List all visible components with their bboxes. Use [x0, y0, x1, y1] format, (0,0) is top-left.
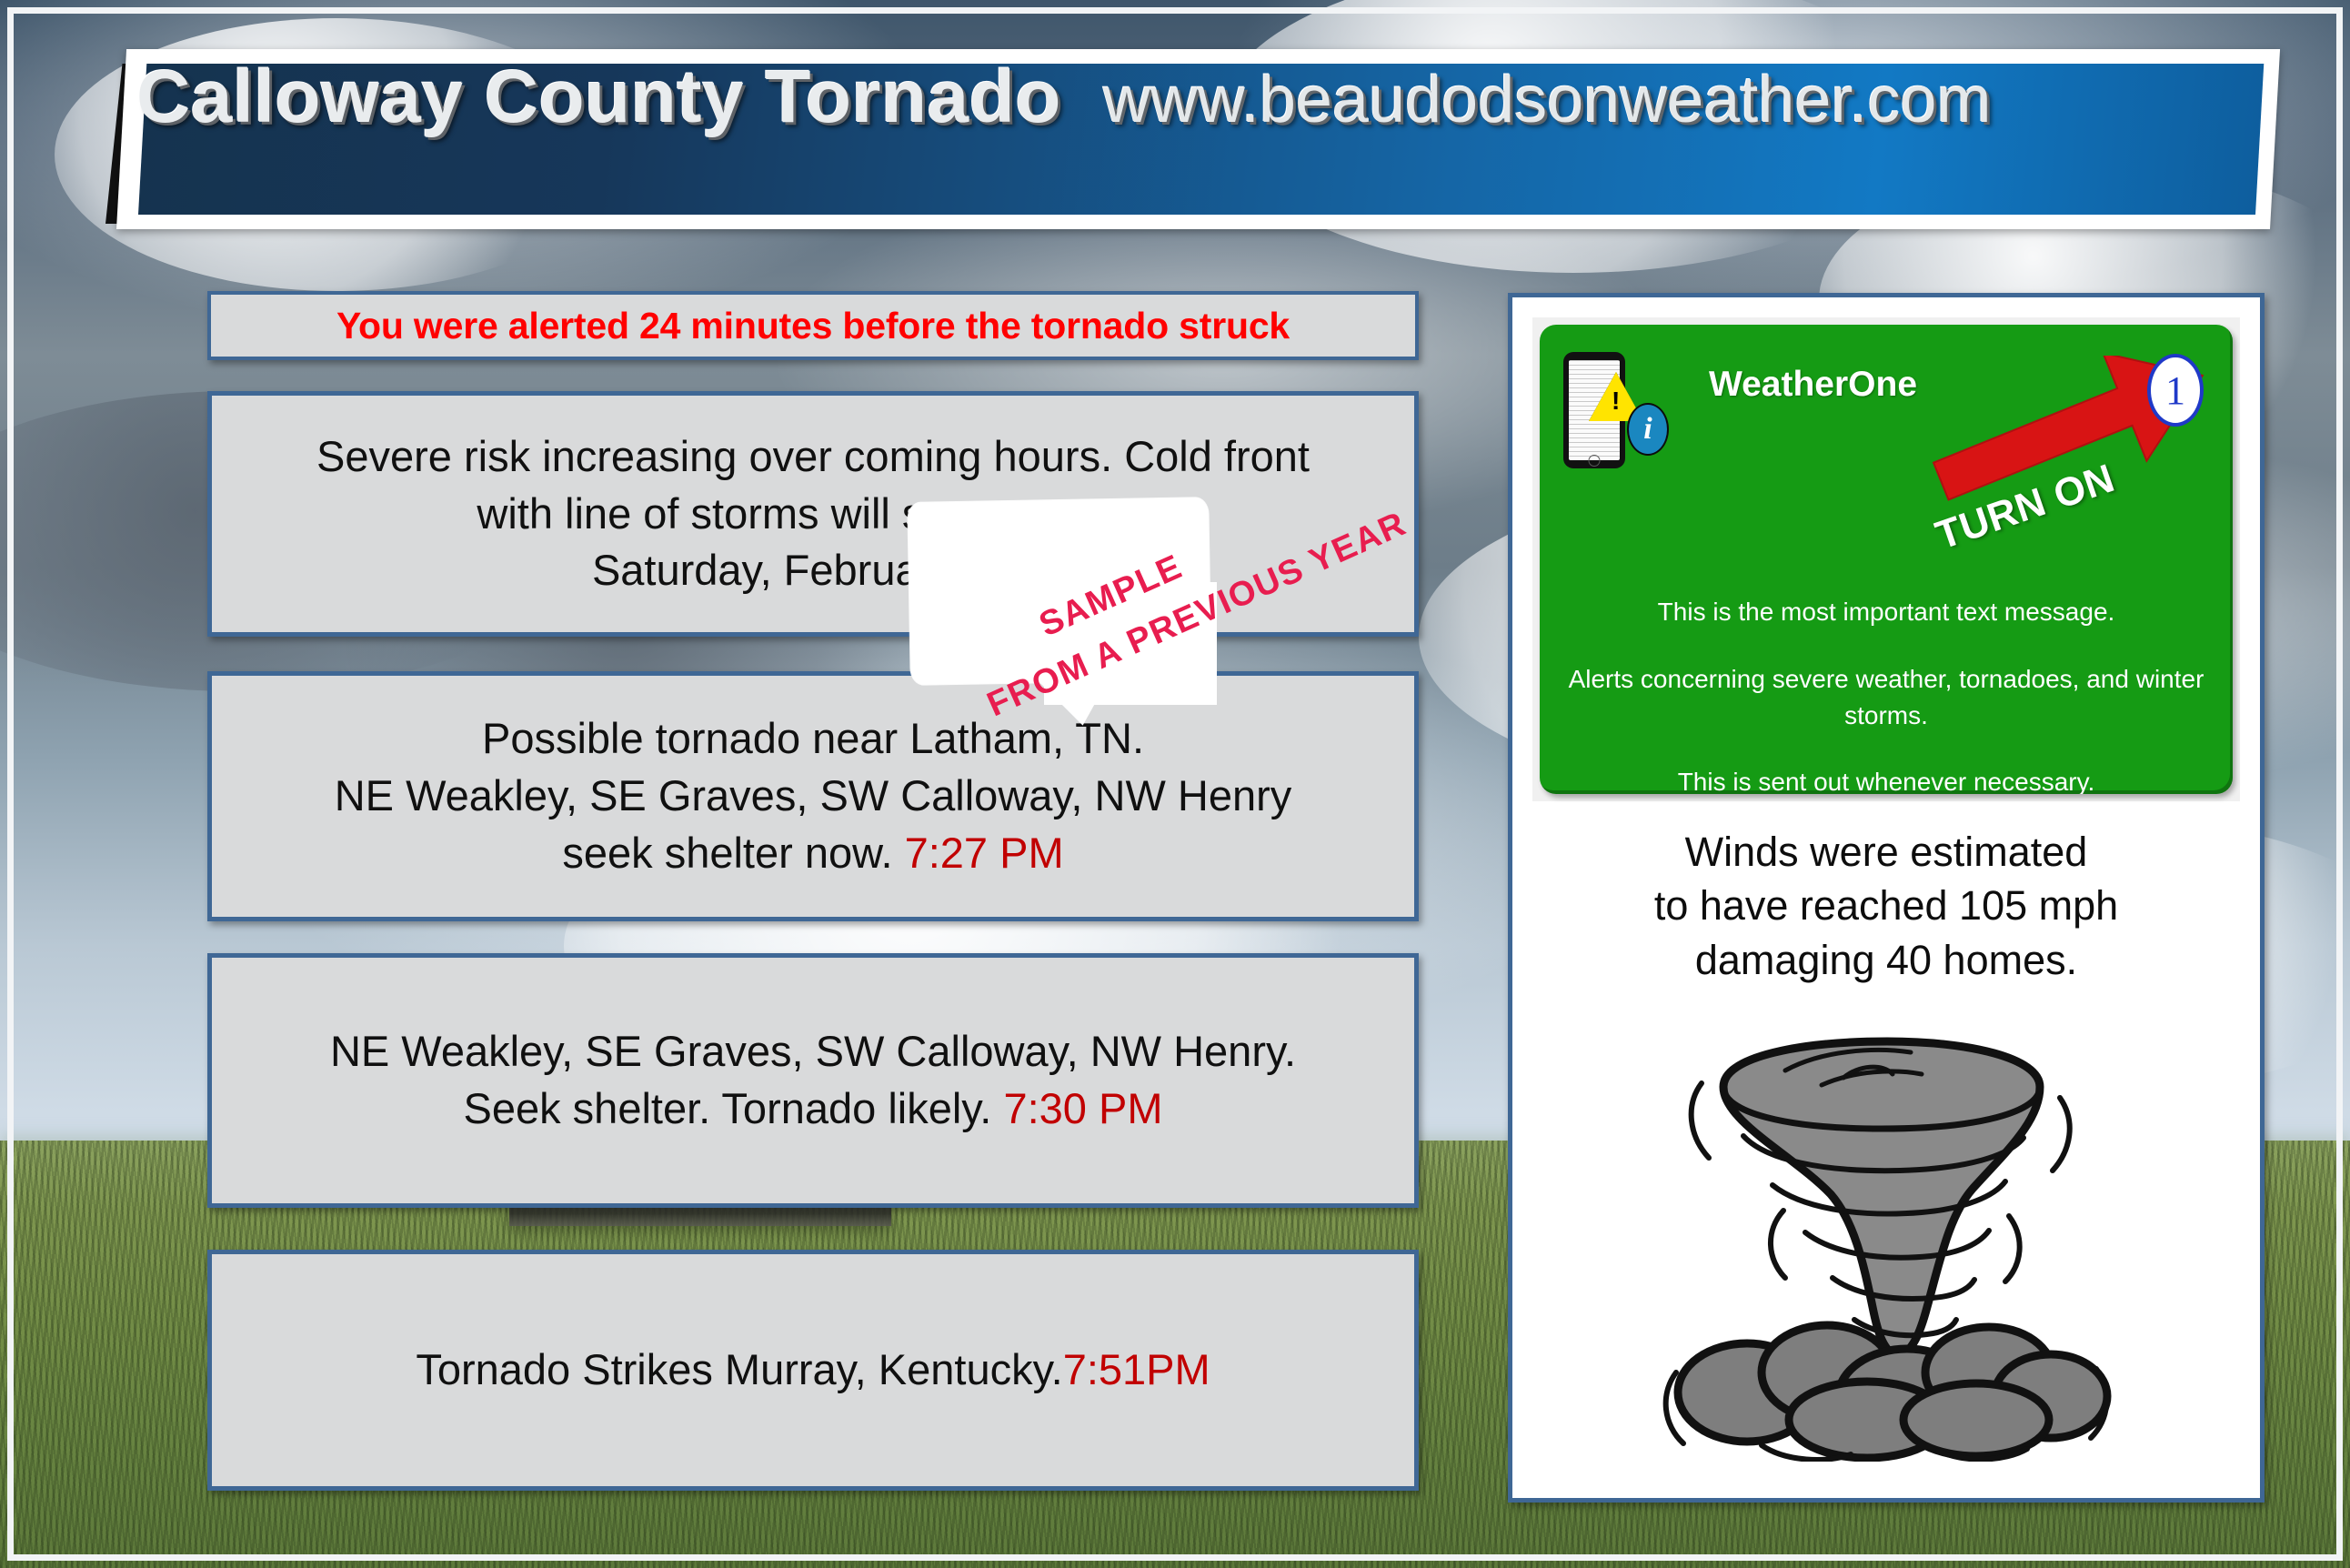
weatherone-body-text: This is the most important text message.… [1540, 594, 2233, 794]
alert-banner-text: You were alerted 24 minutes before the t… [336, 305, 1290, 347]
weatherone-body-line-1: This is the most important text message. [1567, 594, 2205, 630]
message-line-text: Tornado Strikes Murray, Kentucky. [416, 1345, 1062, 1393]
message-line: NE Weakley, SE Graves, SW Calloway, NW H… [330, 1023, 1296, 1081]
message-line: seek shelter now. 7:27 PM [562, 825, 1063, 882]
weatherone-brand-label: WeatherOne [1709, 365, 1917, 405]
message-line: Seek shelter. Tornado likely. 7:30 PM [464, 1081, 1163, 1138]
weatherone-panel: i WeatherOne 1 TURN ON This is the most … [1508, 293, 2265, 1503]
tornado-warning-message-box: Possible tornado near Latham, TN. NE Wea… [207, 671, 1419, 921]
message-timestamp: 7:51PM [1063, 1345, 1210, 1393]
message-line-text: seek shelter now. [562, 829, 892, 877]
tornado-strike-message-box: Tornado Strikes Murray, Kentucky.7:51PM [207, 1250, 1419, 1491]
info-icon: i [1627, 403, 1669, 456]
page-title: Calloway County Tornado [136, 55, 1061, 140]
step-number-badge: 1 [2147, 354, 2204, 427]
tornado-likely-message-box: NE Weakley, SE Graves, SW Calloway, NW H… [207, 953, 1419, 1208]
weatherone-body-line-2: Alerts concerning severe weather, tornad… [1567, 661, 2205, 734]
forecast-message-box: Severe risk increasing over coming hours… [207, 391, 1419, 637]
wind-summary-line-1: Winds were estimated [1512, 825, 2260, 879]
weatherone-card-frame: i WeatherOne 1 TURN ON This is the most … [1532, 317, 2240, 801]
weatherone-green-card: i WeatherOne 1 TURN ON This is the most … [1540, 325, 2233, 794]
tornado-illustration [1649, 1034, 2122, 1462]
wind-summary-line-3: damaging 40 homes. [1512, 933, 2260, 987]
message-line: Severe risk increasing over coming hours… [316, 428, 1310, 486]
wind-summary-line-2: to have reached 105 mph [1512, 879, 2260, 932]
message-timestamp: 7:27 PM [905, 829, 1064, 877]
message-line: NE Weakley, SE Graves, SW Calloway, NW H… [335, 768, 1292, 825]
alert-banner: You were alerted 24 minutes before the t… [207, 291, 1419, 360]
message-line-text: Seek shelter. Tornado likely. [464, 1084, 992, 1132]
message-timestamp: 7:30 PM [1003, 1084, 1162, 1132]
wind-summary-text: Winds were estimated to have reached 105… [1512, 825, 2260, 987]
callout-mask [1044, 582, 1217, 705]
site-url: www.beaudodsonweather.com [1103, 63, 1992, 137]
header-text-group: Calloway County Tornado www.beaudodsonwe… [136, 55, 2228, 191]
weatherone-body-line-3: This is sent out whenever necessary. [1567, 764, 2205, 794]
message-line: Tornado Strikes Murray, Kentucky.7:51PM [416, 1342, 1210, 1399]
